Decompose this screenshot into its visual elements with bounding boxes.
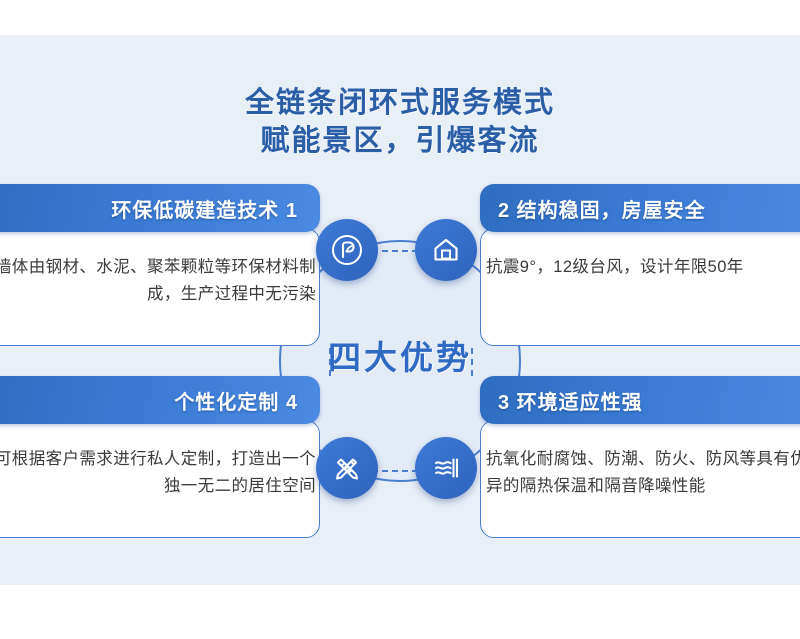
card-2-header[interactable]: 2 结构稳固，房屋安全	[480, 184, 800, 232]
infographic-root: 全链条闭环式服务模式 赋能景区，引爆客流 环保低碳建造技术 1 墙体由钢材、水泥…	[0, 0, 800, 639]
card-4-icon-bubble[interactable]	[316, 437, 378, 499]
card-1-header[interactable]: 环保低碳建造技术 1	[0, 184, 320, 232]
card-2-icon-bubble[interactable]	[415, 219, 477, 281]
card-3-title: 3 环境适应性强	[498, 386, 643, 415]
card-2-title: 2 结构稳固，房屋安全	[498, 194, 706, 223]
wind-waves-icon	[428, 450, 464, 486]
card-1-body: 墙体由钢材、水泥、聚苯颗粒等环保材料制成，生产过程中无污染	[0, 254, 316, 307]
card-2[interactable]	[480, 228, 800, 346]
center-label: 四大优势	[279, 331, 521, 379]
card-3-body: 抗氧化耐腐蚀、防潮、防火、防风等具有优异的隔热保温和隔音降噪性能	[486, 446, 800, 499]
page-title: 全链条闭环式服务模式 赋能景区，引爆客流	[0, 84, 800, 159]
leaf-eco-icon	[329, 232, 365, 268]
card-4-header[interactable]: 个性化定制 4	[0, 376, 320, 424]
card-1-title: 环保低碳建造技术 1	[111, 194, 298, 223]
card-4-body: 可根据客户需求进行私人定制，打造出一个独一无二的居住空间	[0, 446, 316, 499]
page-title-line2: 赋能景区，引爆客流	[0, 122, 800, 160]
card-3-header[interactable]: 3 环境适应性强	[480, 376, 800, 424]
house-icon	[428, 232, 464, 268]
card-2-body: 抗震9°，12级台风，设计年限50年	[486, 254, 800, 281]
page-title-line1: 全链条闭环式服务模式	[245, 85, 555, 119]
card-3-icon-bubble[interactable]	[415, 437, 477, 499]
card-1-icon-bubble[interactable]	[316, 219, 378, 281]
ruler-pencil-icon	[329, 450, 365, 486]
card-4-title: 个性化定制 4	[174, 386, 298, 415]
